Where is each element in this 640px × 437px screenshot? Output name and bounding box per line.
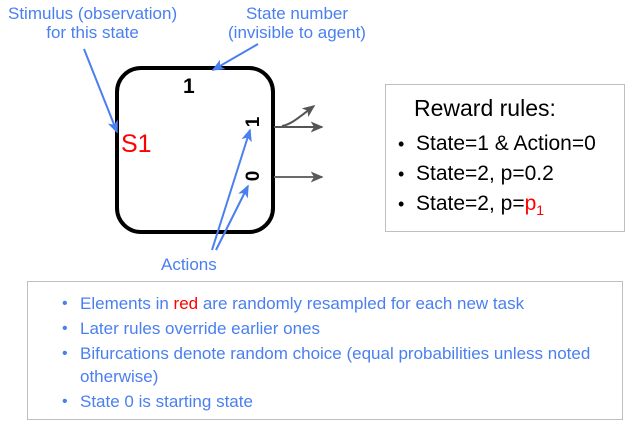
- stimulus-observation-label: S1: [121, 130, 152, 159]
- reward-rules-list: State=1 & Action=0 State=2, p=0.2 State=…: [396, 129, 596, 225]
- notes-list: Elements in red are randomly resampled f…: [62, 292, 602, 415]
- note-item: Elements in red are randomly resampled f…: [62, 292, 602, 315]
- state-number-annotation-line2: (invisible to agent): [228, 23, 366, 42]
- reward-rule-variable: p: [525, 192, 537, 215]
- reward-rule-text: State=1 & Action=0: [416, 132, 596, 155]
- reward-rules-panel: Reward rules: State=1 & Action=0 State=2…: [385, 84, 625, 232]
- notes-panel: Elements in red are randomly resampled f…: [27, 281, 623, 420]
- reward-rule-variable-subscript: 1: [536, 202, 544, 218]
- transition-arrow-action1-branch: [282, 106, 314, 126]
- stimulus-pointer-arrow: [84, 49, 117, 132]
- reward-rules-title: Reward rules:: [414, 95, 556, 122]
- state-number-annotation-line1: State number: [228, 4, 366, 23]
- note-item: Bifurcations denote random choice (equal…: [62, 342, 602, 388]
- note-text-after: are randomly resampled for each new task: [198, 294, 524, 313]
- note-text-highlight: red: [174, 294, 199, 313]
- note-text: Later rules override earlier ones: [80, 319, 320, 338]
- state-number-label: 1: [183, 75, 195, 99]
- note-item: State 0 is starting state: [62, 390, 602, 413]
- note-text: State 0 is starting state: [80, 392, 253, 411]
- reward-rule-item: State=1 & Action=0: [396, 129, 596, 159]
- reward-rule-text: State=2, p=0.2: [416, 162, 554, 185]
- stimulus-annotation: Stimulus (observation) for this state: [8, 4, 177, 42]
- action-port-label-1: 1: [243, 112, 265, 132]
- reward-rule-item: State=2, p=p1: [396, 189, 596, 225]
- actions-annotation: Actions: [161, 255, 217, 274]
- diagram-canvas: Stimulus (observation) for this state St…: [0, 0, 640, 437]
- note-text: Bifurcations denote random choice (equal…: [80, 344, 590, 386]
- action-port-label-0: 0: [243, 166, 265, 186]
- stimulus-annotation-line1: Stimulus (observation): [8, 4, 177, 23]
- reward-rule-text: State=2, p=: [416, 192, 525, 215]
- note-item: Later rules override earlier ones: [62, 317, 602, 340]
- stimulus-annotation-line2: for this state: [8, 23, 177, 42]
- note-text-before: Elements in: [80, 294, 174, 313]
- reward-rule-item: State=2, p=0.2: [396, 159, 596, 189]
- state-number-annotation: State number (invisible to agent): [228, 4, 366, 42]
